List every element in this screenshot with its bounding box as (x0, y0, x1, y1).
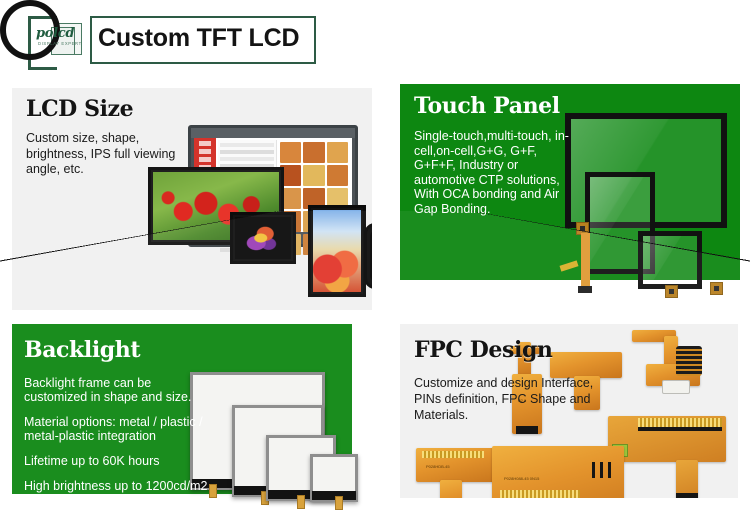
panel-body-text: Lifetime up to 60K hours (24, 454, 214, 468)
panel-body-fpc-design: Customize and design Interface, PINs def… (414, 375, 604, 423)
panel-body-lcd-size: Custom size, shape, brightness, IPS full… (26, 131, 176, 178)
fpc-part-d-tail (676, 460, 698, 498)
fpc-label-f: P028H088-45 0N15 (504, 476, 539, 481)
panel-body-touch-panel: Single-touch,multi-touch, in-cell,on-cel… (414, 129, 574, 216)
panel-title-lcd-size: LCD Size (26, 96, 133, 122)
panel-body-text: Custom size, shape, brightness, IPS full… (26, 131, 176, 178)
panel-title-backlight: Backlight (24, 337, 140, 363)
fpc-label-e: P028HDB-45 (426, 464, 450, 469)
panel-body-text: Single-touch,multi-touch, in-cell,on-cel… (414, 129, 574, 216)
panel-body-backlight: Backlight frame can be customized in sha… (24, 376, 214, 504)
panel-body-text: High brightness up to 1200cd/m2 (24, 479, 214, 493)
panel-body-text: Backlight frame can be customized in sha… (24, 376, 214, 404)
panel-title-touch-panel: Touch Panel (414, 93, 560, 119)
fpc-ribbon-cable (676, 346, 702, 376)
panel-body-text: Material options: metal / plastic / meta… (24, 415, 214, 443)
backlight-panel-4 (310, 454, 358, 502)
infographic-page: polcd DISPLAY EXPERT Custom TFT LCD (0, 0, 750, 521)
panel-body-text: Customize and design Interface, PINs def… (414, 375, 604, 423)
logo-wordmark: polcd (36, 26, 74, 41)
fpc-white-connector (662, 380, 690, 394)
fpc-part-e-tail (440, 480, 462, 498)
logo-tagline: DISPLAY EXPERT (38, 42, 82, 47)
fpc-part-f-body (492, 446, 624, 498)
panel-title-fpc-design: FPC Design (414, 337, 553, 363)
